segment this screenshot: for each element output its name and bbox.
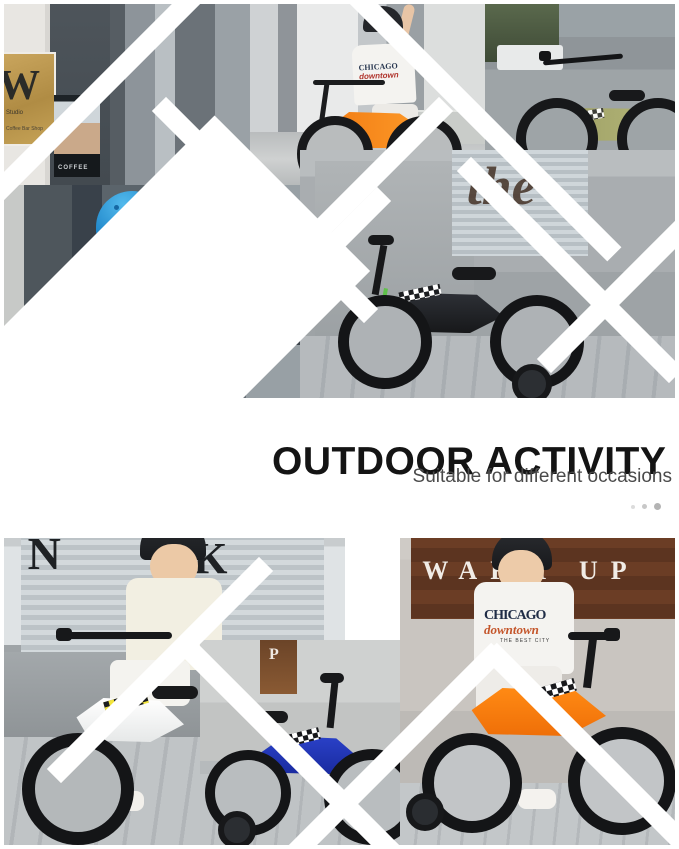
page-subtitle: Suitable for different occasions	[272, 466, 672, 488]
sign-text-secondary: Coffee Bar Shop	[6, 126, 43, 132]
shirt-text-line3: THE BEST CITY	[500, 638, 550, 644]
handlebar-grip	[539, 51, 551, 61]
saddle	[152, 686, 198, 699]
carousel-dot-2[interactable]	[642, 504, 647, 509]
saddle	[452, 267, 496, 280]
carousel-dot-1[interactable]	[631, 505, 635, 509]
shirt-text-line2: downtown	[484, 622, 539, 638]
edge-bottom	[0, 845, 679, 849]
saddle	[609, 90, 645, 101]
sign-text-primary: Studio	[6, 110, 23, 116]
training-wheel	[406, 793, 444, 831]
handlebar-grip	[56, 628, 72, 641]
edge-top	[0, 0, 679, 4]
carousel-dot-3[interactable]	[654, 503, 661, 510]
handlebar	[62, 632, 172, 639]
product-lifestyle-collage: W Studio Coffee Bar Shop COFFEE CHICAGO …	[0, 0, 679, 849]
carousel-dots[interactable]	[631, 503, 661, 510]
sneaker-right	[518, 789, 556, 809]
fork	[326, 682, 338, 728]
handlebar-grip	[604, 628, 620, 641]
poster-caption: COFFEE	[58, 165, 88, 171]
handlebar-grip	[368, 235, 394, 245]
sign-letter: W	[0, 62, 40, 110]
signboard-letter: P	[269, 646, 279, 664]
parked-van	[497, 45, 563, 70]
fork	[583, 638, 597, 689]
